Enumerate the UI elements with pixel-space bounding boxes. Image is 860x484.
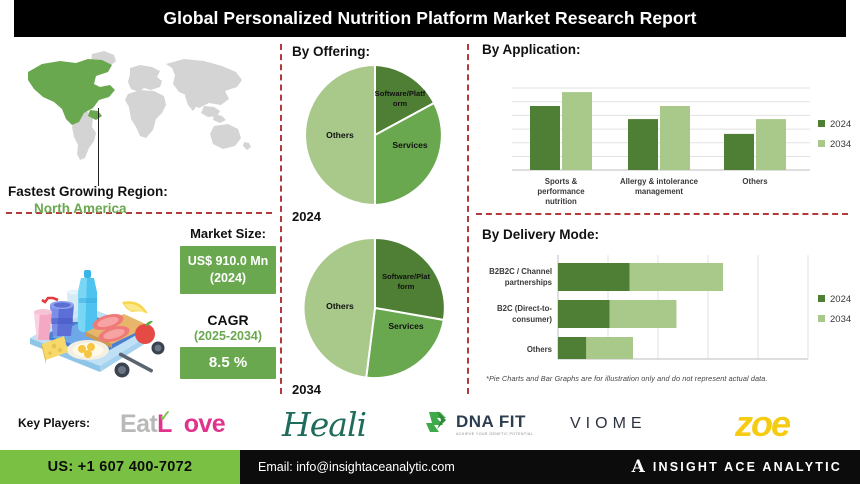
market-size-block: Market Size: US$ 910.0 Mn (2024)	[180, 226, 276, 294]
market-size-value: US$ 910.0 Mn (2024)	[180, 246, 276, 294]
svg-text:Services: Services	[388, 321, 424, 331]
pie-chart-2024: Software/Platf orm Services Others 2024	[284, 62, 466, 224]
svg-text:partnerships: partnerships	[505, 278, 553, 287]
svg-text:orm: orm	[393, 99, 408, 108]
bar-2024-b2b2c	[558, 263, 630, 291]
bar-2034-b2b2c	[630, 263, 723, 291]
world-map-icon	[18, 48, 263, 163]
svg-text:Services: Services	[392, 140, 428, 150]
logo-dnafit-tagline: ACHIEVE YOUR GENETIC POTENTIAL	[456, 432, 533, 436]
svg-text:Software/Platf: Software/Platf	[375, 89, 426, 98]
svg-text:2024: 2024	[830, 119, 851, 130]
svg-text:Sports &: Sports &	[545, 177, 578, 186]
logo-dnafit[interactable]: DNA FIT ACHIEVE YOUR GENETIC POTENTIAL	[425, 404, 533, 444]
key-players-row: Key Players: EatL✓ove Heali DNA FIT ACHI…	[0, 398, 860, 450]
footer-bar: US: +1 607 400-7072 Email: info@insighta…	[0, 450, 860, 484]
svg-text:Others: Others	[742, 177, 768, 186]
svg-text:2024: 2024	[830, 294, 851, 305]
divider-vertical-right	[467, 44, 469, 394]
svg-text:Others: Others	[326, 130, 354, 140]
dna-arrow-icon	[425, 409, 451, 439]
chart-disclaimer: *Pie Charts and Bar Graphs are for illus…	[486, 374, 768, 383]
svg-text:Software/Plat: Software/Plat	[382, 272, 431, 281]
svg-text:management: management	[635, 187, 683, 196]
pie-2024-year-label: 2024	[292, 209, 466, 224]
logo-dnafit-text: DNA FIT	[456, 412, 533, 432]
report-title-bar: Global Personalized Nutrition Platform M…	[14, 0, 846, 37]
right-panel: By Application:	[470, 40, 860, 395]
logo-zoe[interactable]: zoe	[735, 404, 789, 444]
cagr-block: CAGR (2025-2034) 8.5 %	[180, 312, 276, 379]
svg-text:form: form	[398, 282, 415, 291]
page-title: Global Personalized Nutrition Platform M…	[163, 8, 696, 29]
logo-heali[interactable]: Heali	[282, 404, 366, 444]
bar-2024-sports	[530, 106, 560, 170]
footer-email: Email: info@insightaceanalytic.com	[258, 460, 455, 474]
legend-swatch-2024-delivery	[818, 295, 825, 302]
bar-2024-others-delivery	[558, 337, 586, 359]
brand-name: INSIGHT ACE ANALYTIC	[653, 460, 842, 474]
svg-text:2034: 2034	[830, 314, 851, 325]
svg-text:B2C (Direct-to-: B2C (Direct-to-	[497, 304, 552, 313]
cagr-years: (2025-2034)	[180, 329, 276, 343]
application-heading: By Application:	[482, 42, 581, 57]
divider-vertical-left	[280, 44, 282, 394]
key-players-label: Key Players:	[18, 416, 90, 430]
svg-text:performance: performance	[537, 187, 585, 196]
delivery-chart-block: By Delivery Mode:	[470, 225, 860, 395]
svg-text:Others: Others	[326, 301, 354, 311]
delivery-heading: By Delivery Mode:	[482, 227, 599, 242]
logo-eatlove[interactable]: EatL✓ove	[120, 404, 225, 444]
legend-swatch-2034	[818, 140, 825, 147]
svg-text:2034: 2034	[830, 139, 851, 150]
logo-viome[interactable]: VIOME	[570, 404, 647, 444]
legend-swatch-2034-delivery	[818, 315, 825, 322]
logo-eatlove-part3: ove	[184, 410, 225, 439]
footer-phone: US: +1 607 400-7072	[48, 459, 193, 475]
legend-swatch-2024	[818, 120, 825, 127]
offering-panel: By Offering: Software/Platf orm Services…	[284, 40, 466, 395]
fastest-growing-region-value: North America	[34, 201, 258, 216]
left-panel: Fastest Growing Region: North America	[0, 40, 280, 395]
brand-mark-icon: A	[632, 457, 645, 477]
footer-phone-block: US: +1 607 400-7072	[0, 450, 240, 484]
footer-brand: A INSIGHT ACE ANALYTIC	[632, 457, 842, 477]
bar-2034-allergy	[660, 106, 690, 170]
map-pointer-line	[98, 108, 99, 186]
svg-text:nutrition: nutrition	[545, 197, 577, 206]
pie-chart-2034: Software/Plat form Services Others 2034	[284, 235, 466, 397]
bar-2024-others	[724, 134, 754, 170]
offering-heading: By Offering:	[292, 44, 370, 59]
bar-2024-allergy	[628, 119, 658, 170]
bar-2034-others	[756, 119, 786, 170]
svg-text:consumer): consumer)	[512, 315, 552, 324]
svg-text:Allergy & intolerance: Allergy & intolerance	[620, 177, 699, 186]
bar-2024-b2c	[558, 300, 610, 328]
cagr-heading: CAGR	[180, 312, 276, 328]
fastest-growing-region-block: Fastest Growing Region: North America	[8, 184, 258, 216]
nutrition-tray-icon	[12, 240, 172, 380]
market-size-heading: Market Size:	[180, 226, 276, 241]
pie-2034-year-label: 2034	[292, 382, 466, 397]
logo-eatlove-part1: Eat	[120, 410, 157, 439]
infographic-page: Global Personalized Nutrition Platform M…	[0, 0, 860, 484]
application-chart-block: By Application:	[470, 40, 860, 210]
svg-text:Others: Others	[527, 345, 553, 354]
leaf-icon: ✓	[159, 407, 171, 425]
bar-2034-b2c	[610, 300, 677, 328]
bar-2034-sports	[562, 92, 592, 170]
bar-2034-others-delivery	[586, 337, 633, 359]
svg-text:B2B2C / Channel: B2B2C / Channel	[489, 267, 552, 276]
cagr-value: 8.5 %	[180, 347, 276, 379]
fastest-growing-region-label: Fastest Growing Region:	[8, 184, 258, 199]
